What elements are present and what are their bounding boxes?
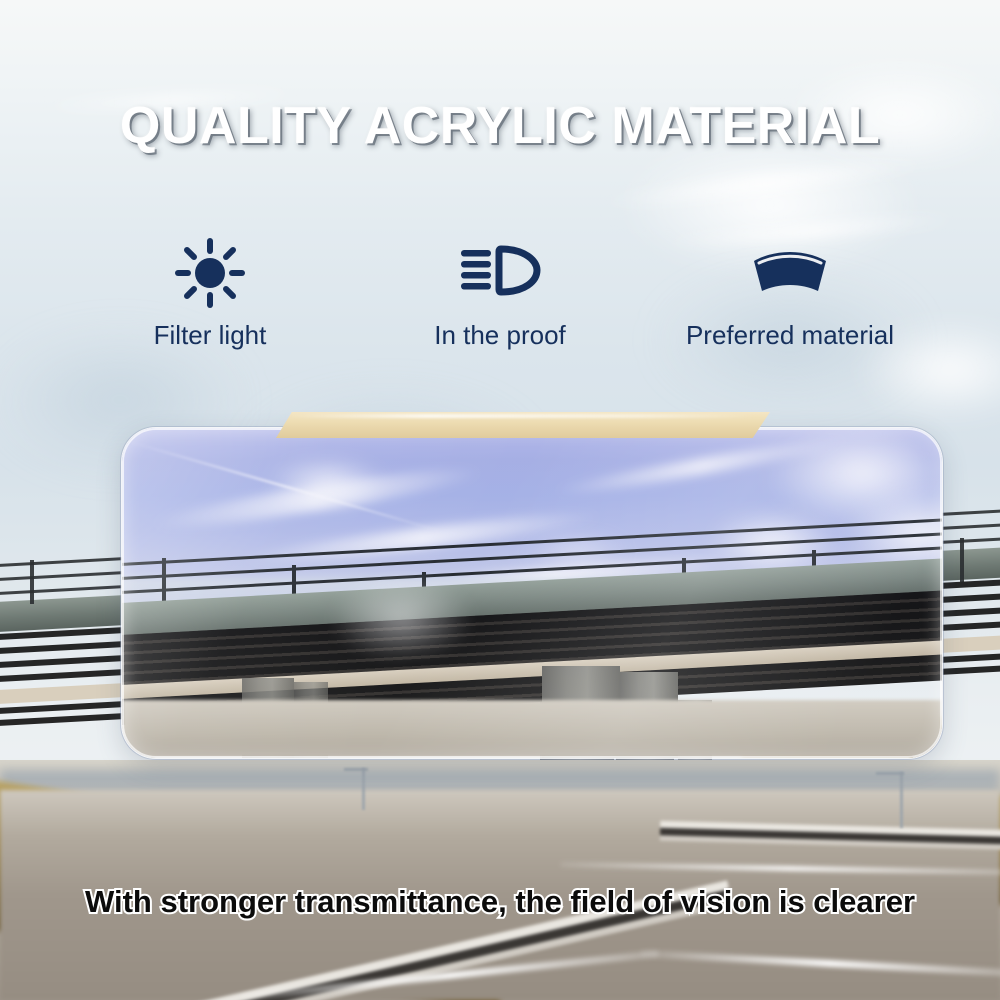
feature-item-preferred-material: Preferred material bbox=[645, 236, 935, 351]
car-visor-icon bbox=[745, 236, 835, 310]
street-light-pole bbox=[362, 768, 365, 810]
street-light-pole bbox=[900, 772, 903, 828]
page-title: QUALITY ACRYLIC MATERIAL bbox=[0, 96, 1000, 156]
railing-post bbox=[960, 538, 964, 582]
feature-row: Filter light In the proof bbox=[0, 236, 1000, 351]
feature-label: Preferred material bbox=[686, 320, 894, 351]
headlight-icon bbox=[459, 236, 541, 310]
railing-post bbox=[30, 560, 34, 604]
ground bbox=[122, 700, 942, 758]
visor-clip-bar-highlight bbox=[286, 414, 756, 418]
bottom-caption: With stronger transmittance, the field o… bbox=[0, 884, 1000, 920]
feature-label: In the proof bbox=[434, 320, 566, 351]
feature-item-filter-light: Filter light bbox=[65, 236, 355, 351]
product-marketing-image: QUALITY ACRYLIC MATERIAL bbox=[0, 0, 1000, 1000]
street-light-arm bbox=[344, 768, 368, 771]
railing-post bbox=[162, 558, 166, 604]
sun-icon bbox=[174, 236, 246, 310]
feature-item-in-the-proof: In the proof bbox=[355, 236, 645, 351]
visor-acrylic-surface bbox=[122, 428, 942, 758]
street-light-arm bbox=[876, 772, 904, 775]
feature-label: Filter light bbox=[154, 320, 267, 351]
car-sun-visor-panel[interactable] bbox=[122, 428, 942, 758]
